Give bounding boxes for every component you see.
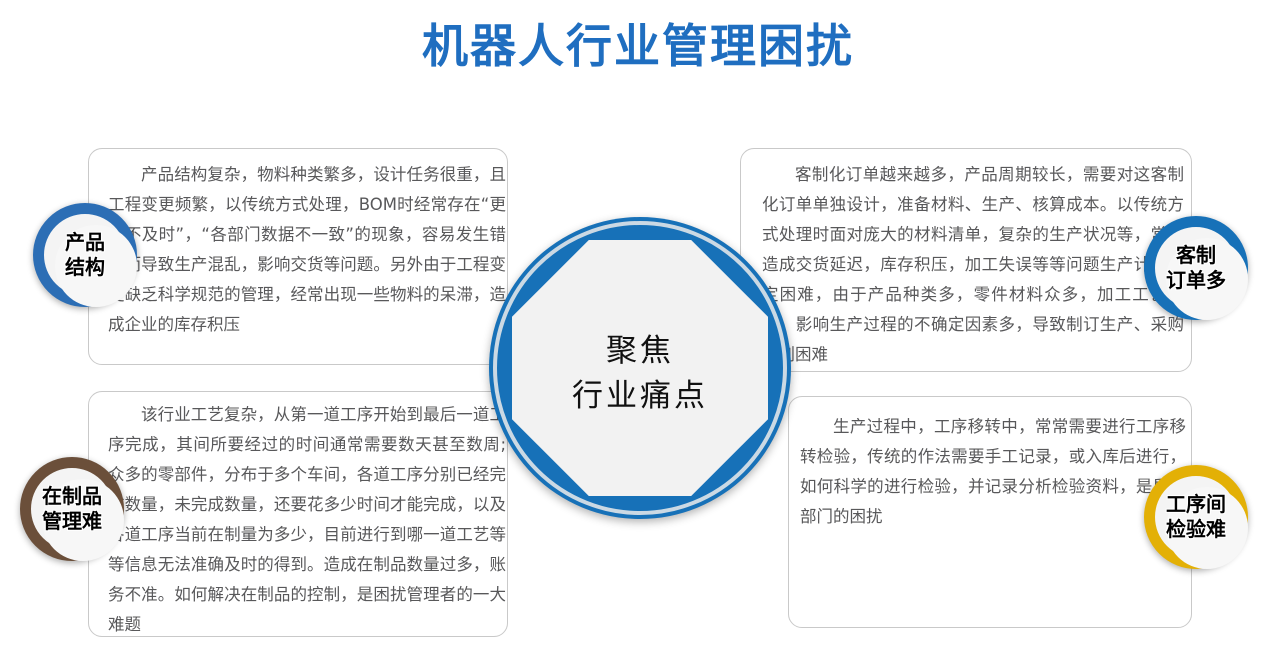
badge-product-structure[interactable]: 产品 结构	[33, 203, 137, 307]
slide-canvas: 机器人行业管理困扰 产品结构复杂，物料种类繁多，设计任务很重，且工程变更频繁，以…	[0, 0, 1276, 671]
badge-inter-process-inspection-label: 工序间 检验难	[1166, 492, 1226, 542]
card-wip-management-text: 该行业工艺复杂，从第一道工序开始到最后一道工序完成，其间所要经过的时间通常需要数…	[108, 400, 506, 640]
card-product-structure-text: 产品结构复杂，物料种类繁多，设计任务很重，且工程变更频繁，以传统方式处理，BOM…	[108, 160, 506, 340]
badge-wip-management[interactable]: 在制品 管理难	[20, 457, 124, 561]
card-custom-orders-text: 客制化订单越来越多，产品周期较长，需要对这客制化订单单独设计，准备材料、生产、核…	[762, 160, 1184, 370]
center-focus-graphic: 聚焦 行业痛点	[489, 217, 791, 519]
badge-custom-orders-label: 客制 订单多	[1166, 243, 1226, 293]
badge-wip-management-label: 在制品 管理难	[42, 484, 102, 534]
badge-product-structure-label: 产品 结构	[65, 230, 105, 280]
badge-custom-orders[interactable]: 客制 订单多	[1144, 216, 1248, 320]
badge-inter-process-inspection[interactable]: 工序间 检验难	[1144, 465, 1248, 569]
center-label: 聚焦 行业痛点	[489, 329, 791, 419]
card-inter-process-inspection-text: 生产过程中，工序移转中，常常需要进行工序移转检验，传统的作法需要手工记录，或入库…	[800, 412, 1186, 532]
page-title: 机器人行业管理困扰	[0, 10, 1276, 76]
